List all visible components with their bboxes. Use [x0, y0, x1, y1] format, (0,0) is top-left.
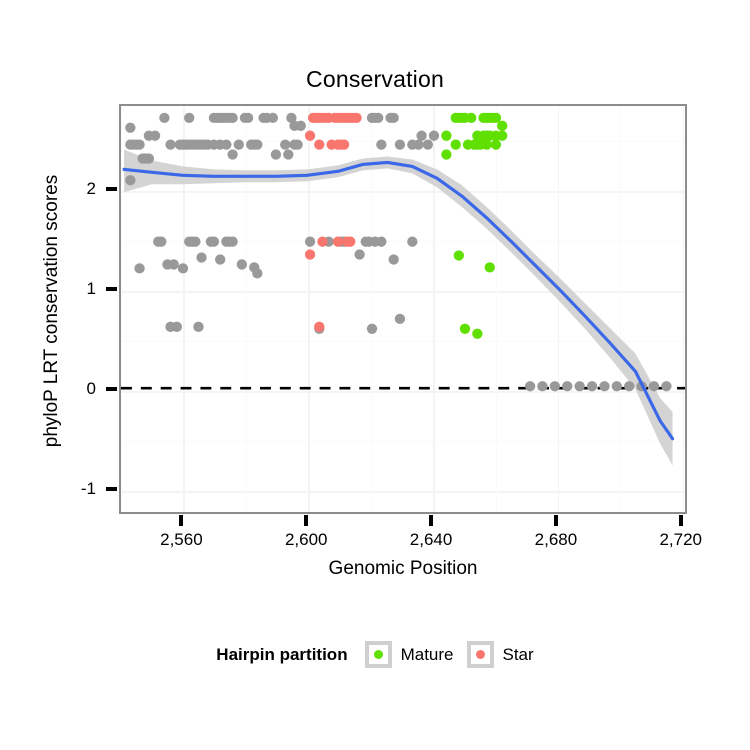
x-tick-mark [679, 515, 683, 526]
x-tick-label: 2,600 [266, 530, 346, 550]
x-tick-label: 2,640 [391, 530, 471, 550]
x-tick-mark [554, 515, 558, 526]
plot-panel [119, 104, 687, 514]
page-title: Conservation [0, 66, 750, 93]
x-axis-label: Genomic Position [119, 558, 687, 580]
legend-items: MatureStar [365, 641, 534, 668]
loess-fit-line [121, 106, 685, 512]
legend-label: Mature [401, 645, 454, 665]
legend: Hairpin partition MatureStar [0, 641, 750, 668]
y-tick-label: -1 [56, 479, 96, 499]
legend-dot-icon [476, 650, 485, 659]
legend-key [467, 641, 494, 668]
y-tick-label: 0 [56, 379, 96, 399]
y-tick-mark [106, 287, 117, 291]
x-tick-mark [429, 515, 433, 526]
y-tick-mark [106, 387, 117, 391]
y-tick-mark [106, 487, 117, 491]
x-tick-mark [179, 515, 183, 526]
legend-title: Hairpin partition [216, 645, 347, 665]
legend-label: Star [503, 645, 534, 665]
y-tick-mark [106, 187, 117, 191]
legend-key [365, 641, 392, 668]
y-tick-label: 1 [56, 279, 96, 299]
x-tick-label: 2,680 [516, 530, 596, 550]
x-tick-label: 2,720 [641, 530, 721, 550]
x-tick-mark [304, 515, 308, 526]
y-tick-label: 2 [56, 179, 96, 199]
fit-line-path [124, 162, 673, 438]
x-tick-label: 2,560 [141, 530, 221, 550]
legend-item-mature[interactable]: Mature [365, 641, 454, 668]
conservation-chart-figure: Conservation phyloP LRT conservation sco… [0, 0, 750, 750]
legend-item-star[interactable]: Star [467, 641, 534, 668]
legend-dot-icon [374, 650, 383, 659]
